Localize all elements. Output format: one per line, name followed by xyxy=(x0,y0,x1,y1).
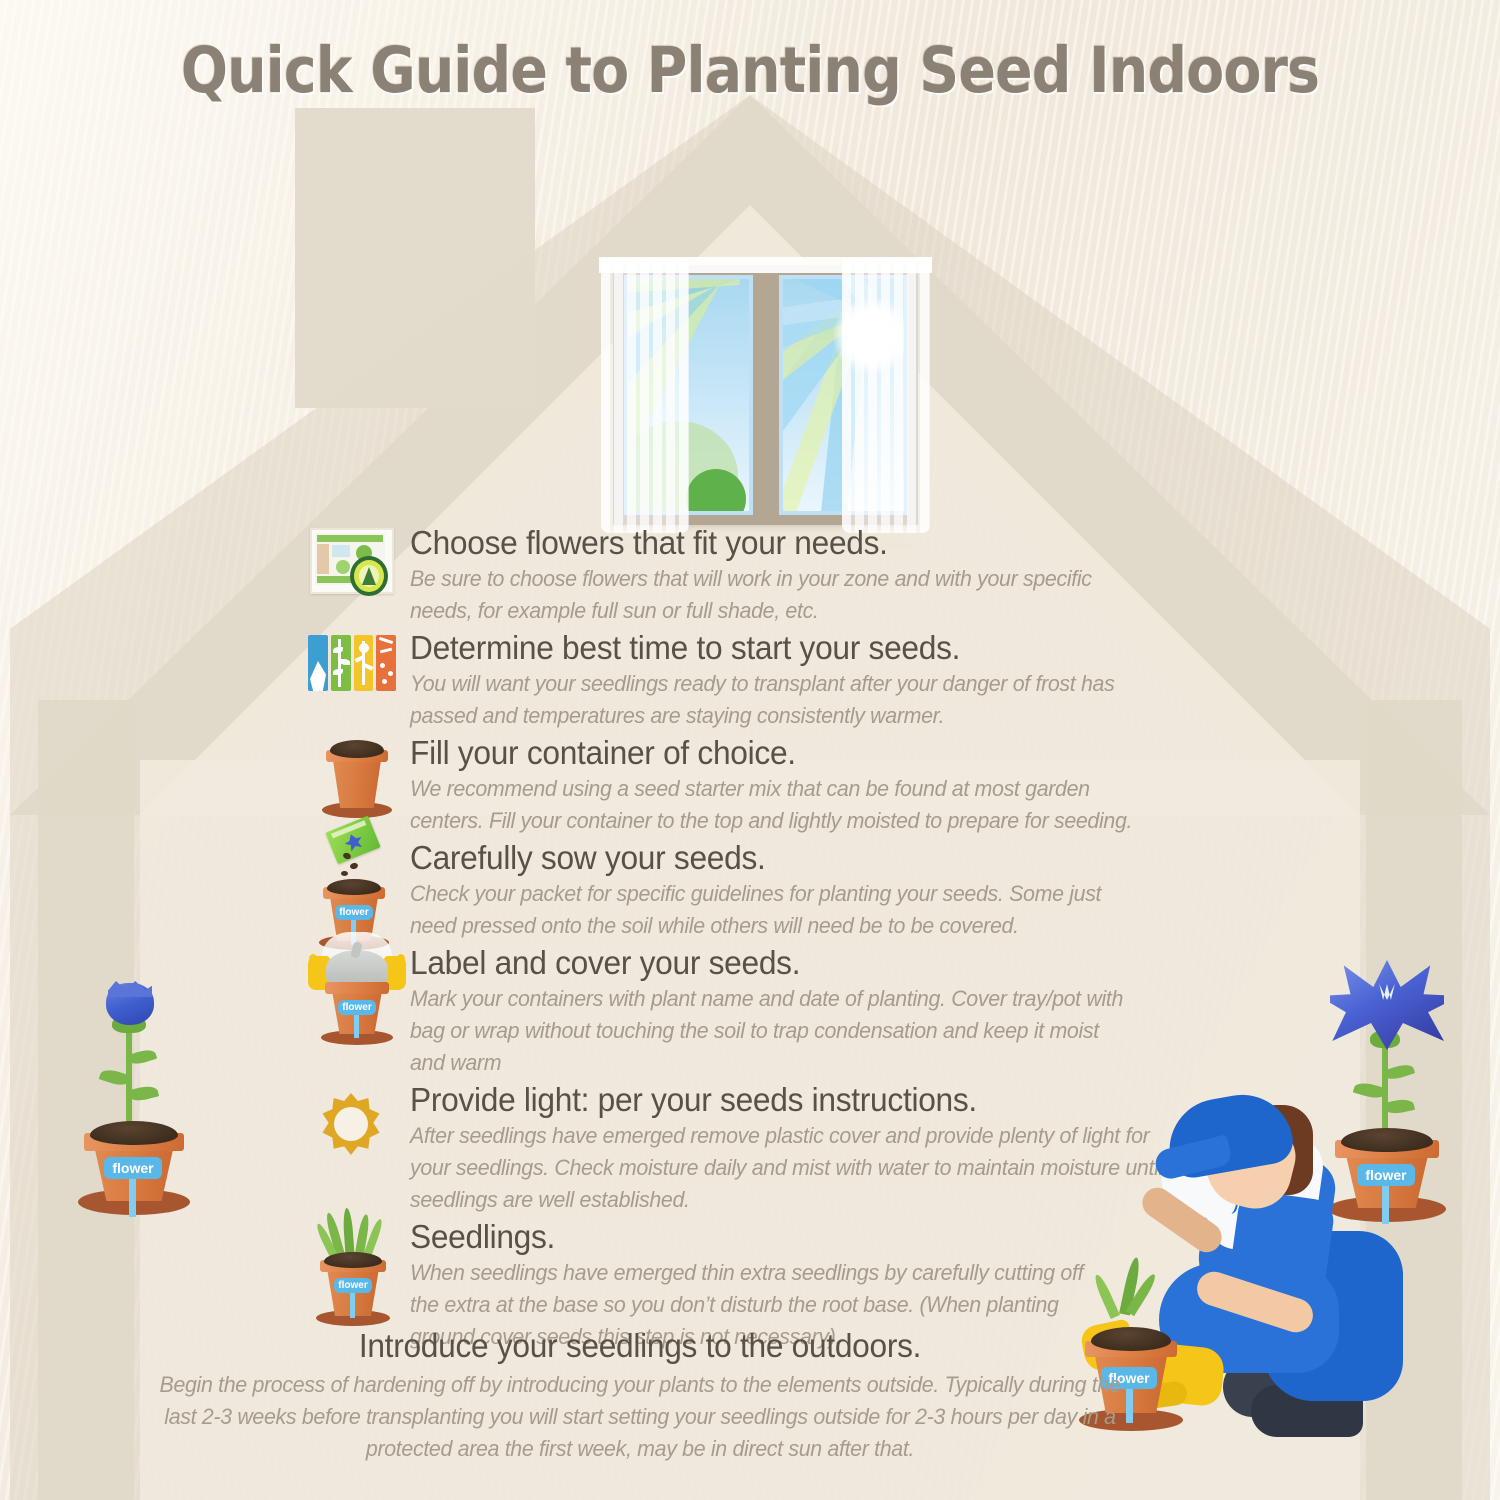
step-icon-slot xyxy=(306,1081,406,1082)
step-item: Determine best time to start your seeds.… xyxy=(306,629,1486,732)
outro-block: Introduce your seedlings to the outdoors… xyxy=(120,1326,1160,1465)
step-text-block: Carefully sow your seeds. Check your pac… xyxy=(406,839,1486,942)
outro-body: Begin the process of hardening off by in… xyxy=(146,1369,1134,1465)
covered-pot-gloves-icon: flower xyxy=(308,940,406,1050)
step-body: We recommend using a seed starter mix th… xyxy=(410,773,1161,837)
step-item: Fill your container of choice. We recomm… xyxy=(306,734,1486,837)
step-icon-slot: flower xyxy=(306,1218,406,1219)
sun-light-icon xyxy=(320,1093,382,1155)
step-body: After seedlings have emerged remove plas… xyxy=(410,1120,1175,1216)
seedlings-pot-icon: flower xyxy=(316,1212,402,1328)
filled-pot-icon xyxy=(322,736,392,820)
step-text-block: Determine best time to start your seeds.… xyxy=(406,629,1486,732)
step-body: Mark your containers with plant name and… xyxy=(410,983,1132,1079)
step-text-block: Fill your container of choice. We recomm… xyxy=(406,734,1486,837)
step-icon-slot: flower xyxy=(306,944,406,945)
step-item: flower Label and cover your seeds. Mark … xyxy=(306,944,1486,1079)
step-heading: Determine best time to start your seeds. xyxy=(410,629,1443,667)
step-item: Choose flowers that fit your needs. Be s… xyxy=(306,524,1486,627)
step-text-block: Choose flowers that fit your needs. Be s… xyxy=(406,524,1486,627)
step-body: You will want your seedlings ready to tr… xyxy=(410,668,1142,732)
flower-bloom xyxy=(1330,960,1444,1050)
step-heading: Fill your container of choice. xyxy=(410,734,1443,772)
step-icon-slot xyxy=(306,734,406,735)
pot-body xyxy=(329,756,385,808)
pot-soil xyxy=(90,1121,178,1145)
step-icon-slot xyxy=(306,629,406,630)
page-title: Quick Guide to Planting Seed Indoors xyxy=(90,34,1410,107)
curtain-right xyxy=(842,259,930,533)
plant-tag: flower xyxy=(104,1157,162,1179)
step-icon-slot xyxy=(306,524,406,525)
step-icon-slot: flower xyxy=(306,839,406,840)
plant-tag: flower xyxy=(335,905,373,920)
window-mullion xyxy=(757,275,775,515)
pot-soil xyxy=(324,1252,382,1268)
step-heading: Label and cover your seeds. xyxy=(410,944,1443,982)
house-chimney-shape xyxy=(295,108,535,408)
pot-rim xyxy=(325,982,389,994)
outro-heading: Introduce your seedlings to the outdoors… xyxy=(141,1326,1139,1366)
seed-packet-pouring-icon: flower xyxy=(316,823,400,943)
seed-packet xyxy=(325,816,380,865)
curtain-left xyxy=(601,259,689,533)
pot-soil xyxy=(330,740,384,758)
infographic-poster: Quick Guide to Planting Seed Indoors xyxy=(0,0,1500,1500)
step-item: flower Carefully sow your seeds. Check y… xyxy=(306,839,1486,942)
four-seasons-icon xyxy=(308,635,396,691)
step-body: Check your packet for specific guideline… xyxy=(410,878,1146,942)
curtain-valance xyxy=(599,257,932,273)
seedling-blade xyxy=(1092,1273,1120,1319)
window-sunlight-icon xyxy=(613,265,918,525)
step-body: Be sure to choose flowers that will work… xyxy=(410,563,1108,627)
step-heading: Carefully sow your seeds. xyxy=(410,839,1443,877)
garden-plan-compass-icon xyxy=(306,526,398,602)
plant-tag: flower xyxy=(338,1000,376,1015)
step-text-block: Label and cover your seeds. Mark your co… xyxy=(406,944,1486,1079)
plant-tag: flower xyxy=(334,1278,372,1293)
step-heading: Choose flowers that fit your needs. xyxy=(410,524,1443,562)
potted-bell-flower-closed-icon: flower xyxy=(78,975,190,1223)
pot-soil xyxy=(327,879,381,895)
